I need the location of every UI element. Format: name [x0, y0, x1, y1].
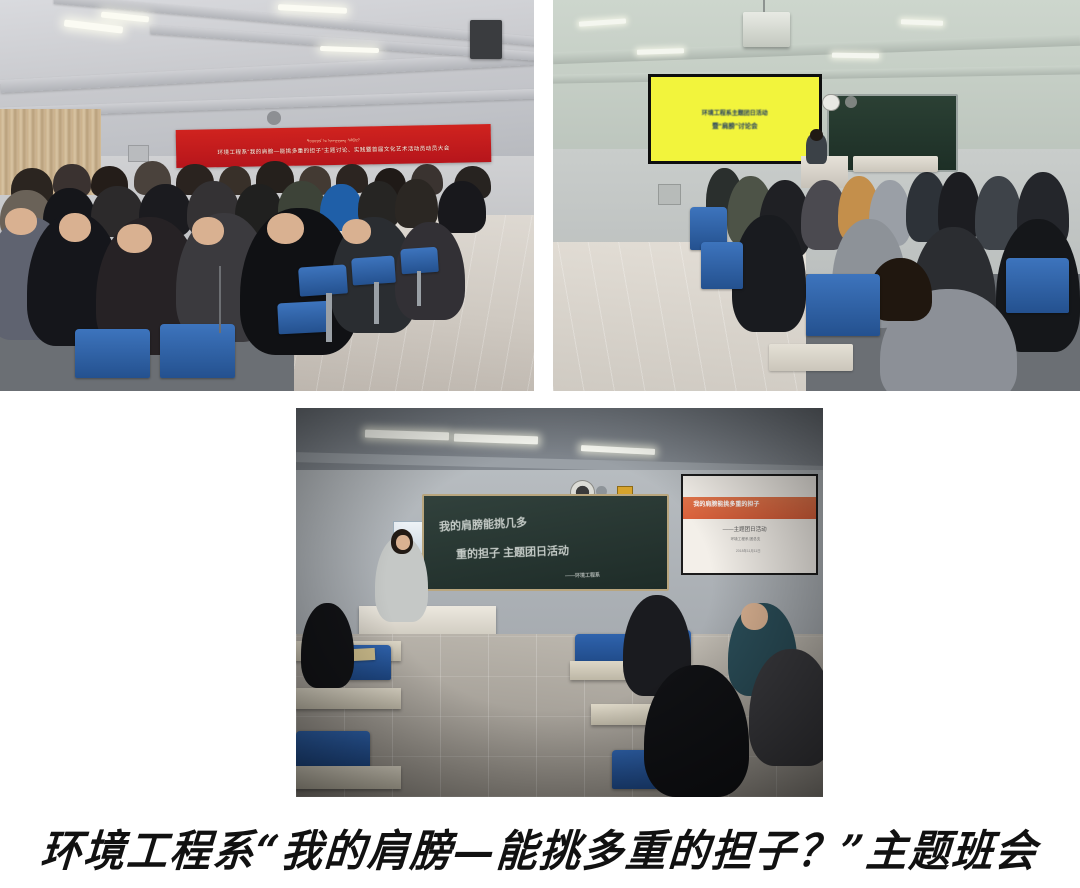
blackboard-line-1: 我的肩膀能挑几多: [439, 514, 528, 535]
collage-page: ᠲᠣᠭᠣᠷᠢᠨ ᠤ ᠢᠨᠵᠧᠨᠧᠷᠢᠩ ᠰᠠᠯᠪᠤᠷᠢ 环境工程系“我的肩膀—能…: [0, 0, 1080, 888]
slide-subtitle: ——主题团日活动: [723, 525, 767, 533]
photo-classroom-blackboard: 我的肩膀能挑几多 重的担子 主题团日活动 ——环境工程系 我的肩膀能挑多重的担子…: [296, 408, 823, 797]
event-banner: ᠲᠣᠭᠣᠷᠢᠨ ᠤ ᠢᠨᠵᠧᠨᠧᠷᠢᠩ ᠰᠠᠯᠪᠤᠷᠢ 环境工程系“我的肩膀—能…: [176, 124, 492, 168]
desk: [853, 156, 937, 172]
chair: [75, 329, 150, 378]
chair: [277, 300, 332, 334]
blackboard-line-2: 重的担子 主题团日活动: [456, 542, 570, 562]
slide-line-2: 暨“肩膀”讨论会: [712, 120, 758, 130]
wall-clock: [822, 94, 840, 112]
ceiling-projector: [743, 12, 790, 47]
chair: [806, 274, 880, 337]
blackboard: 我的肩膀能挑几多 重的担子 主题团日活动 ——环境工程系: [422, 494, 668, 591]
ceiling-light: [832, 52, 880, 58]
student-face: [741, 603, 767, 630]
slide-title: 我的肩膀能挑多重的担子: [693, 499, 805, 508]
slide-content: 环境工程系主题团日活动 暨“肩膀”讨论会: [651, 77, 819, 161]
blackboard-signature: ——环境工程系: [565, 572, 600, 580]
desk: [296, 688, 401, 709]
chair: [296, 731, 370, 770]
caption-bar: 环境工程系“我的肩膀—能挑多重的担子？”主题班会: [0, 806, 1080, 888]
desk: [769, 344, 853, 371]
presenter-face: [396, 535, 410, 550]
banner-mongolian-text: ᠲᠣᠭᠣᠷᠢᠨ ᠤ ᠢᠨᠵᠧᠨᠧᠷᠢᠩ ᠰᠠᠯᠪᠤᠷᠢ: [307, 137, 360, 145]
chair: [298, 265, 348, 297]
slide-line-1: 环境工程系主题团日活动: [702, 108, 768, 117]
slide-presenter: 环境工程系 团总支: [731, 537, 761, 542]
slide-content: 我的肩膀能挑多重的担子 ——主题团日活动 环境工程系 团总支 2018年11月1…: [683, 476, 816, 573]
wall-panel: [128, 145, 149, 163]
wall-speaker: [470, 20, 502, 59]
caption-text: 环境工程系“我的肩膀—能挑多重的担子？”主题班会: [39, 815, 1041, 879]
chair: [701, 242, 743, 289]
projection-screen: 我的肩膀能挑多重的担子 ——主题团日活动 环境工程系 团总支 2018年11月1…: [681, 474, 818, 575]
security-camera: [845, 96, 857, 108]
audience-crowd: [0, 168, 534, 391]
desk: [296, 766, 401, 789]
slide-date: 2018年11月11日: [736, 548, 761, 553]
speaker-head: [810, 129, 823, 141]
banner-chinese-text: 环境工程系“我的肩膀—能挑多重的担子”主题讨论、实践暨首届文化艺术活动员动员大会: [218, 144, 450, 156]
photo-lecture-hall-audience: ᠲᠣᠭᠣᠷᠢᠨ ᠤ ᠢᠨᠵᠧᠨᠧᠷᠢᠩ ᠰᠠᠯᠪᠤᠷᠢ 环境工程系“我的肩膀—能…: [0, 0, 534, 391]
ceiling-light: [901, 19, 943, 25]
photo-classroom-yellow-slide: 环境工程系主题团日活动 暨“肩膀”讨论会: [553, 0, 1080, 391]
wall-panel: [658, 184, 681, 206]
chair: [160, 324, 235, 377]
ceiling-camera: [267, 111, 281, 124]
projection-screen: 环境工程系主题团日活动 暨“肩膀”讨论会: [648, 74, 822, 164]
chair: [1006, 258, 1069, 313]
